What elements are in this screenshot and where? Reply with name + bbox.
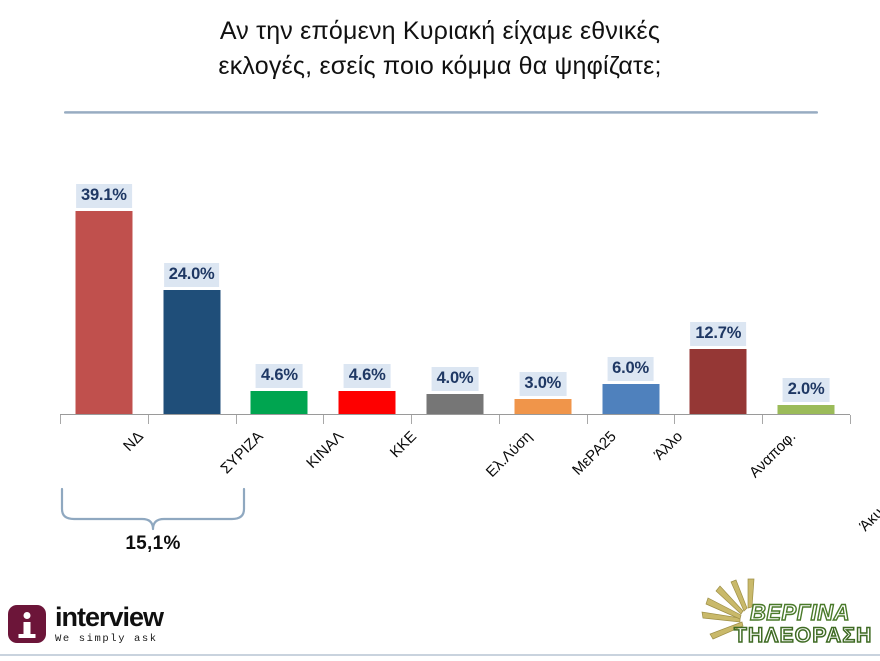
i-dot: [24, 612, 31, 619]
bar-group: 24.0%: [148, 150, 236, 415]
interview-logo-text: interview We simply ask: [55, 604, 163, 645]
bar-value-label: 4.0%: [432, 367, 479, 391]
page-title: Αν την επόμενη Κυριακή είχαμε εθνικές εκ…: [0, 14, 880, 83]
bar-group: 4.6%: [323, 150, 411, 415]
interview-tagline: We simply ask: [55, 634, 163, 645]
bar-value-label: 3.0%: [519, 372, 566, 396]
bar[interactable]: [426, 394, 483, 415]
axis-tick: [148, 415, 149, 424]
title-line-2: εκλογές, εσείς ποιο κόμμα θα ψηφίζατε;: [0, 49, 880, 84]
bar[interactable]: [163, 290, 220, 415]
title-divider: [64, 111, 818, 114]
axis-tick: [323, 415, 324, 424]
bar-value-label: 24.0%: [164, 263, 220, 287]
bar-group: 4.6%: [236, 150, 324, 415]
axis-tick: [587, 415, 588, 424]
bar-group: 39.1%: [60, 150, 148, 415]
bar-group: 12.7%: [674, 150, 762, 415]
title-line-1: Αν την επόμενη Κυριακή είχαμε εθνικές: [0, 14, 880, 49]
interview-i-icon: [8, 605, 46, 643]
i-foot: [19, 634, 36, 638]
category-label: ΚΚΕ: [387, 428, 420, 461]
footer-divider: [0, 654, 880, 656]
category-axis-line: [60, 414, 850, 415]
bar-value-label: 2.0%: [783, 378, 830, 402]
bar-series: 39.1%24.0%4.6%4.6%4.0%3.0%6.0%12.7%2.0%: [60, 150, 850, 415]
bar[interactable]: [75, 211, 132, 415]
axis-tick: [850, 415, 851, 424]
gap-value-label: 15,1%: [58, 533, 248, 555]
interview-name: interview: [55, 604, 163, 631]
category-label: ΜεΡΑ25: [569, 428, 620, 479]
axis-tick: [674, 415, 675, 424]
bar-group: 3.0%: [499, 150, 587, 415]
interview-logo: interview We simply ask: [8, 600, 208, 648]
axis-tick: [499, 415, 500, 424]
category-label: Αναποφ.: [746, 428, 799, 481]
bar-value-label: 6.0%: [607, 357, 654, 381]
bar[interactable]: [602, 384, 659, 415]
bar-value-label: 39.1%: [76, 184, 132, 208]
category-label: Άλλο: [651, 428, 686, 463]
bar-value-label: 4.6%: [344, 364, 391, 388]
bar-group: 2.0%: [762, 150, 850, 415]
bar[interactable]: [514, 399, 571, 415]
bar-value-label: 4.6%: [256, 364, 303, 388]
bar-value-label: 12.7%: [690, 322, 746, 346]
category-label: ΝΔ: [121, 428, 148, 455]
axis-tick: [762, 415, 763, 424]
vergina-tv-logo: ΒΕΡΓΙΝΑ ΤΗΛΕΟΡΑΣΗ: [692, 578, 872, 654]
bar-chart: 39.1%24.0%4.6%4.6%4.0%3.0%6.0%12.7%2.0%: [60, 150, 850, 415]
axis-tick: [236, 415, 237, 424]
slide-canvas: Αν την επόμενη Κυριακή είχαμε εθνικές εκ…: [0, 0, 880, 661]
bar-group: 4.0%: [411, 150, 499, 415]
vergina-subtitle: ΤΗΛΕΟΡΑΣΗ: [734, 624, 873, 648]
category-label: ΣΥΡΙΖΑ: [218, 428, 267, 477]
category-label: ΚΙΝΑΛ: [303, 428, 347, 472]
vergina-name: ΒΕΡΓΙΝΑ: [750, 600, 850, 626]
category-label: Ελ.Λύση: [482, 428, 535, 481]
bar[interactable]: [339, 391, 396, 415]
axis-tick: [60, 415, 61, 424]
bar-group: 6.0%: [587, 150, 675, 415]
bar[interactable]: [251, 391, 308, 415]
category-label: Άκυρο/Λευκό/ΔΓ/ΔΑ: [856, 428, 880, 535]
bar[interactable]: [690, 349, 747, 415]
axis-tick: [411, 415, 412, 424]
